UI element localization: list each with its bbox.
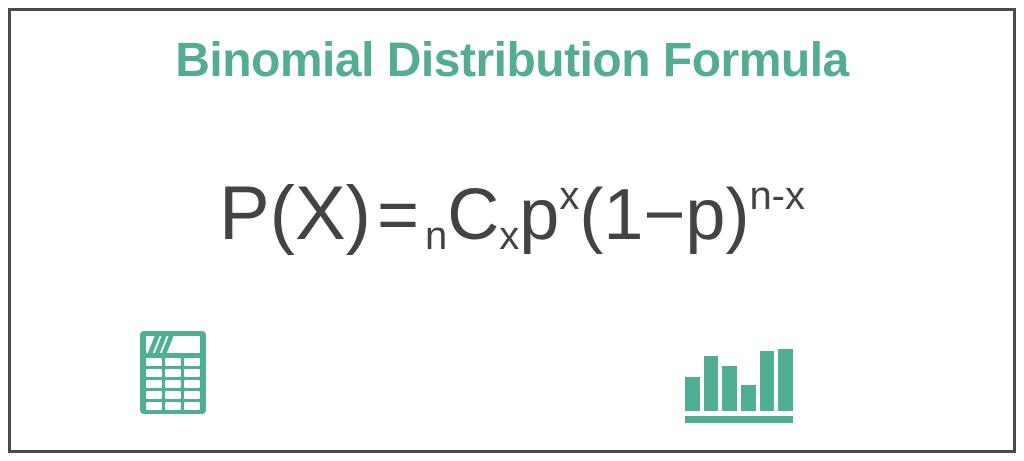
formula-x-exponent: x [559,174,579,218]
calculator-screen [146,336,200,353]
bar-chart-bar [760,351,775,411]
formula-combination: C [447,175,499,255]
formula-one: 1 [603,175,643,255]
formula-nx-exponent: n-x [749,174,805,218]
bar-chart-bar [778,349,793,411]
bar-chart-icon [685,345,793,423]
bar-chart-bars [685,349,793,411]
calculator-key [146,358,162,366]
calculator-key [184,402,200,410]
calculator-keypad [146,358,200,410]
calculator-body [140,331,206,414]
bar-chart-bar [704,356,719,411]
calculator-key [146,369,162,377]
formula-n-subscript: n [425,214,447,258]
formula-lhs: P(X) [219,171,371,256]
calculator-key [146,380,162,388]
calculator-key [165,358,181,366]
content-frame: Binomial Distribution Formula P(X)=nCxpx… [8,8,1016,453]
formula-p-term: p [685,175,725,255]
page-title: Binomial Distribution Formula [11,33,1013,88]
calculator-key [165,402,181,410]
calculator-key [184,391,200,399]
bar-chart-bar [685,377,700,411]
calculator-key [146,391,162,399]
calculator-key [165,369,181,377]
calculator-key [184,369,200,377]
formula-equals: = [371,175,425,255]
formula-display: P(X)=nCxpx(1−p)n-x [11,176,1013,252]
formula-probability: p [519,175,559,255]
calculator-icon [140,331,206,414]
calculator-key [165,380,181,388]
bar-chart-baseline [685,416,793,423]
page-root: Binomial Distribution Formula P(X)=nCxpx… [0,0,1024,461]
calculator-key [184,358,200,366]
bar-chart-bar [722,366,737,411]
formula-minus: − [643,175,685,255]
calculator-key [165,391,181,399]
calculator-key [184,380,200,388]
calculator-key [146,402,162,410]
formula-close-paren: ) [725,175,749,255]
formula-open-paren: ( [579,175,603,255]
bar-chart-bar [741,385,756,411]
formula-x-subscript: x [499,214,519,258]
